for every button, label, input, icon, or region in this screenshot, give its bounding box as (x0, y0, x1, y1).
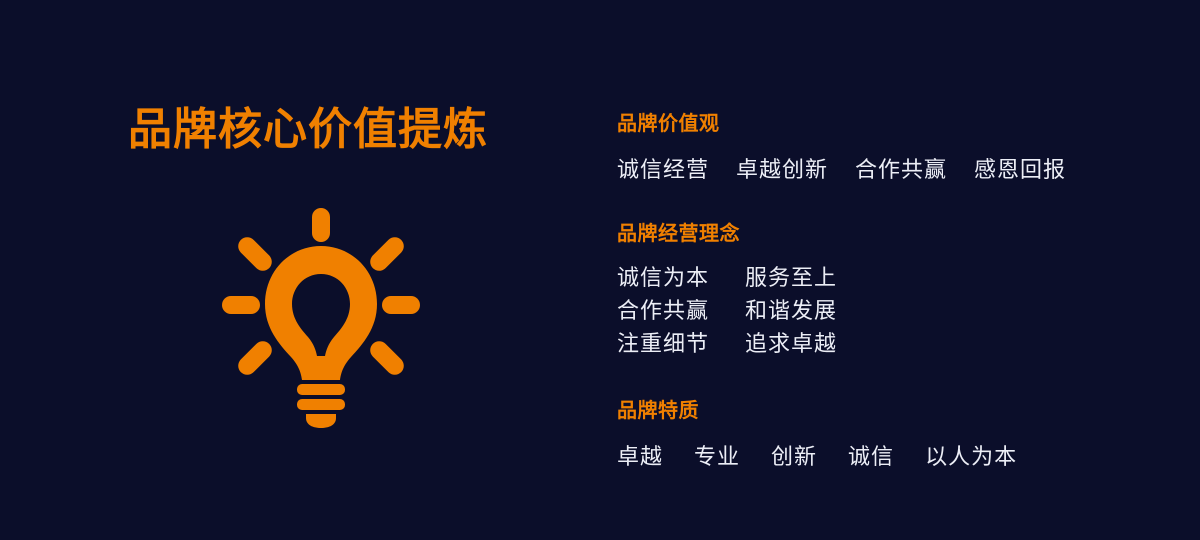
right-panel: 品牌价值观 诚信经营 卓越创新 合作共赢 感恩回报 品牌经营理念 诚信为本 服务… (617, 0, 1177, 540)
brand-traits-list: 卓越 专业 创新 诚信 以人为本 (617, 439, 1017, 471)
grid-cell: 合作共赢 (617, 293, 745, 325)
left-panel: 品牌核心价值提炼 (0, 0, 560, 540)
section-brand-traits: 品牌特质 卓越 专业 创新 诚信 以人为本 (617, 399, 1017, 471)
grid-cell: 和谐发展 (745, 293, 837, 325)
brand-values-list: 诚信经营 卓越创新 合作共赢 感恩回报 (617, 152, 1066, 184)
list-item: 诚信 (848, 439, 894, 471)
section-brand-values: 品牌价值观 诚信经营 卓越创新 合作共赢 感恩回报 (617, 112, 1066, 184)
list-item: 卓越 (617, 439, 663, 471)
slide-canvas: 品牌核心价值提炼 (0, 0, 1200, 540)
lightbulb-icon (215, 198, 427, 428)
list-item: 卓越创新 (736, 152, 828, 184)
grid-cell: 追求卓越 (745, 326, 837, 358)
table-row: 注重细节 追求卓越 (617, 326, 837, 359)
business-philosophy-grid: 诚信为本 服务至上 合作共赢 和谐发展 注重细节 追求卓越 (617, 260, 837, 359)
grid-cell: 诚信为本 (617, 260, 745, 292)
list-item: 诚信经营 (617, 152, 709, 184)
section-business-philosophy: 品牌经营理念 诚信为本 服务至上 合作共赢 和谐发展 注重细节 追求卓越 (617, 222, 837, 359)
list-item: 专业 (694, 439, 740, 471)
section-heading-business-philosophy: 品牌经营理念 (617, 222, 837, 246)
section-heading-brand-values: 品牌价值观 (617, 112, 1066, 136)
page-title: 品牌核心价值提炼 (128, 108, 488, 152)
grid-cell: 服务至上 (745, 260, 837, 292)
grid-cell: 注重细节 (617, 326, 745, 358)
list-item: 合作共赢 (855, 152, 947, 184)
list-item: 创新 (771, 439, 817, 471)
table-row: 诚信为本 服务至上 (617, 260, 837, 293)
table-row: 合作共赢 和谐发展 (617, 293, 837, 326)
section-heading-brand-traits: 品牌特质 (617, 399, 1017, 423)
list-item: 感恩回报 (974, 152, 1066, 184)
list-item: 以人为本 (925, 439, 1017, 471)
